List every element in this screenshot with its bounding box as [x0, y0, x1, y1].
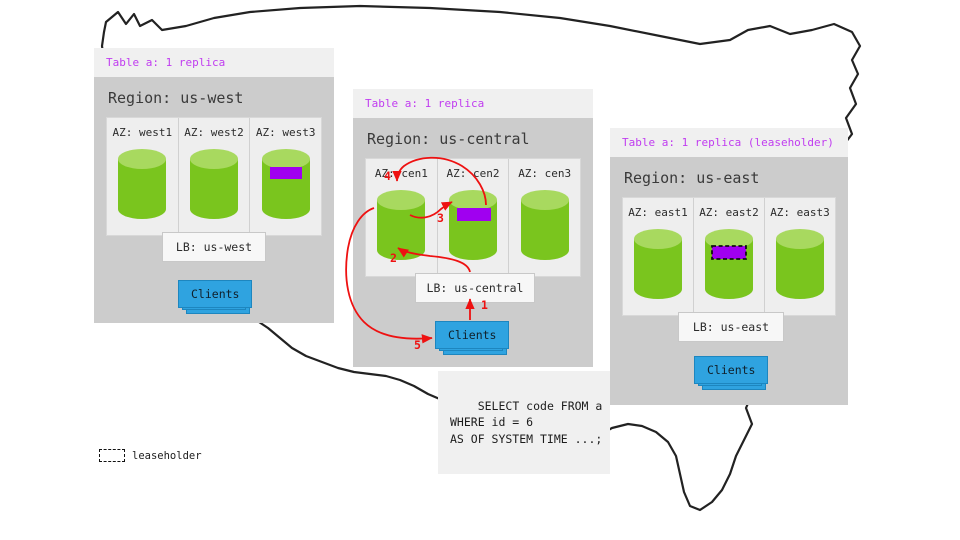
node-cylinder-east2[interactable]	[703, 227, 755, 301]
region-title-us-east: Region: us-east	[610, 157, 848, 197]
az-label-cen3: AZ: cen3	[518, 167, 571, 180]
node-cylinder-west1[interactable]	[116, 147, 168, 221]
az-label-west3: AZ: west3	[256, 126, 316, 139]
arrow-label-5: 5	[414, 338, 421, 352]
node-cylinder-west3[interactable]	[260, 147, 312, 221]
node-cylinder-cen1[interactable]	[375, 188, 427, 262]
region-us-west: Table a: 1 replica Region: us-west AZ: w…	[94, 48, 334, 323]
az-cen2[interactable]: AZ: cen2	[438, 159, 510, 276]
az-label-east3: AZ: east3	[770, 206, 830, 219]
clients-us-central[interactable]: Clients	[435, 321, 509, 349]
arrow-label-2: 2	[390, 251, 397, 265]
clients-label-us-west: Clients	[178, 280, 252, 308]
arrow-label-3: 3	[437, 211, 444, 225]
region-us-central: Table a: 1 replica Region: us-central AZ…	[353, 89, 593, 367]
az-east2[interactable]: AZ: east2	[694, 198, 765, 315]
az-label-west1: AZ: west1	[113, 126, 173, 139]
clients-us-west[interactable]: Clients	[178, 280, 252, 308]
az-row-us-west: AZ: west1 AZ: west2 AZ: west3	[106, 117, 322, 236]
clients-label-us-central: Clients	[435, 321, 509, 349]
node-cylinder-east1[interactable]	[632, 227, 684, 301]
arrow-label-4: 4	[384, 169, 391, 183]
az-west1[interactable]: AZ: west1	[107, 118, 179, 235]
diagram-canvas: Table a: 1 replica Region: us-west AZ: w…	[0, 0, 960, 540]
az-row-us-central: AZ: cen1 AZ: cen2 AZ: cen3	[365, 158, 581, 277]
load-balancer-us-east[interactable]: LB: us-east	[678, 312, 784, 342]
az-label-east2: AZ: east2	[699, 206, 759, 219]
region-header-us-east: Table a: 1 replica (leaseholder)	[610, 128, 848, 157]
replica-marker-west3	[270, 167, 302, 179]
sql-query-text: SELECT code FROM a WHERE id = 6 AS OF SY…	[450, 399, 602, 446]
az-label-east1: AZ: east1	[628, 206, 688, 219]
node-cylinder-east3[interactable]	[774, 227, 826, 301]
legend-leaseholder: leaseholder	[99, 449, 202, 462]
leaseholder-swatch-icon	[99, 449, 125, 462]
node-cylinder-cen3[interactable]	[519, 188, 571, 262]
az-label-cen2: AZ: cen2	[447, 167, 500, 180]
region-title-us-central: Region: us-central	[353, 118, 593, 158]
sql-query-box: SELECT code FROM a WHERE id = 6 AS OF SY…	[438, 371, 610, 474]
clients-label-us-east: Clients	[694, 356, 768, 384]
region-header-us-central: Table a: 1 replica	[353, 89, 593, 118]
az-east3[interactable]: AZ: east3	[765, 198, 835, 315]
az-east1[interactable]: AZ: east1	[623, 198, 694, 315]
az-label-cen1: AZ: cen1	[375, 167, 428, 180]
replica-marker-cen2	[457, 208, 491, 221]
node-cylinder-cen2[interactable]	[447, 188, 499, 262]
legend-label: leaseholder	[132, 450, 202, 462]
az-label-west2: AZ: west2	[184, 126, 244, 139]
load-balancer-us-west[interactable]: LB: us-west	[162, 232, 266, 262]
az-west3[interactable]: AZ: west3	[250, 118, 321, 235]
arrow-label-1: 1	[481, 298, 488, 312]
node-cylinder-west2[interactable]	[188, 147, 240, 221]
region-header-us-west: Table a: 1 replica	[94, 48, 334, 77]
az-cen1[interactable]: AZ: cen1	[366, 159, 438, 276]
leaseholder-marker-east2	[712, 246, 746, 259]
az-row-us-east: AZ: east1 AZ: east2 AZ: east3	[622, 197, 836, 316]
az-cen3[interactable]: AZ: cen3	[509, 159, 580, 276]
az-west2[interactable]: AZ: west2	[179, 118, 251, 235]
region-us-east: Table a: 1 replica (leaseholder) Region:…	[610, 128, 848, 405]
load-balancer-us-central[interactable]: LB: us-central	[415, 273, 535, 303]
region-title-us-west: Region: us-west	[94, 77, 334, 117]
clients-us-east[interactable]: Clients	[694, 356, 768, 384]
